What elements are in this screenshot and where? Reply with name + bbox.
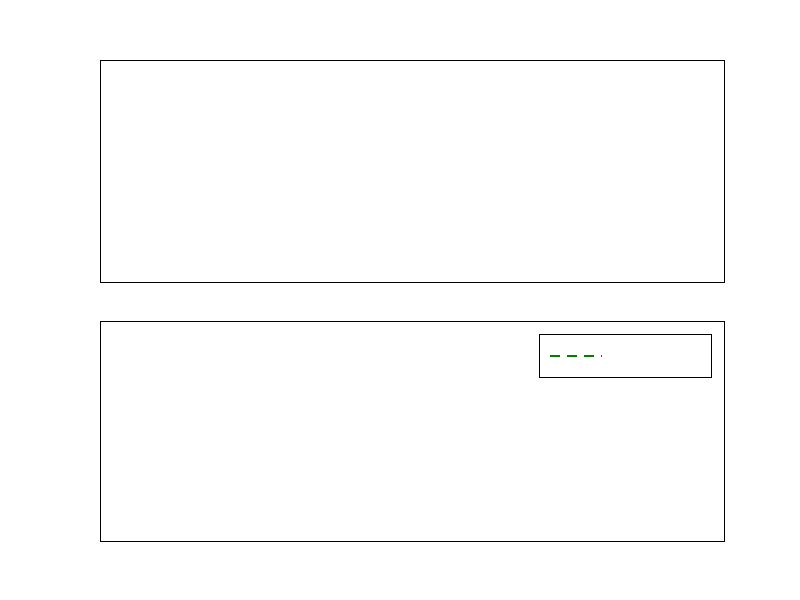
mag-limit-line-icon bbox=[550, 355, 602, 357]
differential-histogram-axes bbox=[100, 60, 725, 283]
differential-histogram-plot bbox=[101, 61, 724, 282]
legend[interactable] bbox=[539, 334, 712, 378]
cumulative-distribution-axes bbox=[100, 321, 725, 542]
figure bbox=[0, 0, 800, 600]
